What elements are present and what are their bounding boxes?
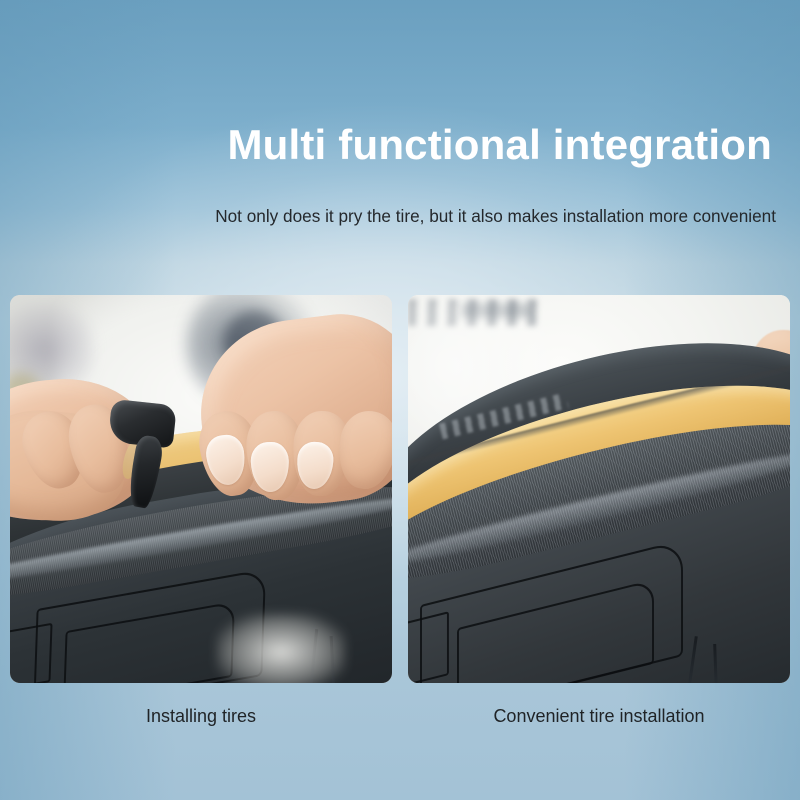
- tire-lever-tool: [103, 399, 178, 502]
- background-lowlight: [216, 613, 346, 683]
- caption-group: Installing tires Convenient tire install…: [10, 705, 790, 728]
- rim-decal-small: [408, 611, 449, 683]
- caption-installing-tires: Installing tires: [10, 705, 392, 728]
- photo-panel-convenient-installation: [408, 295, 790, 683]
- photo-panel-installing-tires: [10, 295, 392, 683]
- wheel-assembly: [408, 295, 790, 683]
- rim-decal-small: [10, 622, 53, 683]
- page-subtitle: Not only does it pry the tire, but it al…: [0, 205, 776, 228]
- caption-convenient-installation: Convenient tire installation: [408, 705, 790, 728]
- product-feature-poster: Multi functional integration Not only do…: [0, 0, 800, 800]
- photo-panel-group: [10, 295, 790, 683]
- page-title: Multi functional integration: [0, 121, 772, 170]
